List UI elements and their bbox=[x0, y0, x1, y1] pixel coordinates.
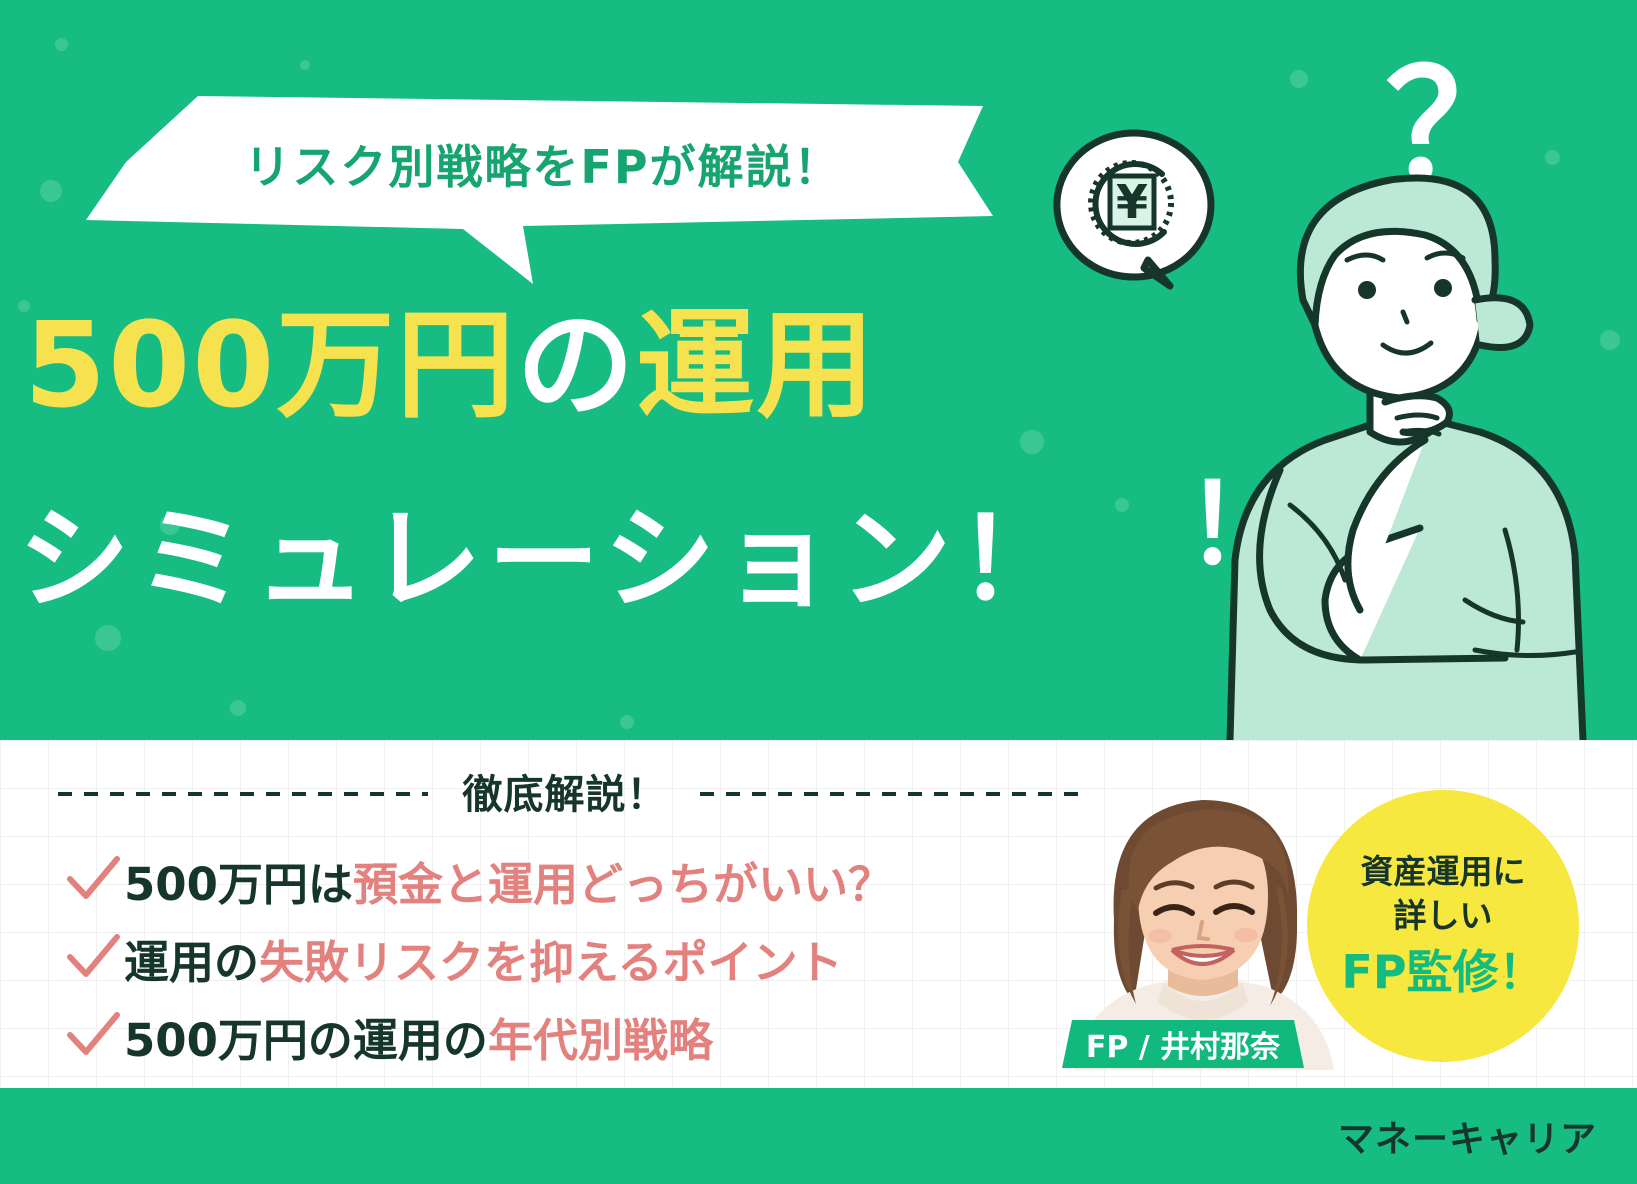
main-title-line-2: シミュレーション！ bbox=[18, 495, 1268, 625]
dashed-rule-left bbox=[58, 792, 428, 796]
brand-logo-text: マネーキャリア bbox=[1338, 1110, 1597, 1162]
fp-name-label: FP / 井村那奈 bbox=[1062, 1020, 1304, 1068]
footer-bar: マネーキャリア bbox=[0, 1088, 1637, 1184]
list-item: 500万円の運用の年代別戦略 bbox=[62, 1001, 1012, 1071]
badge-line-3: FP監修！ bbox=[1341, 942, 1544, 1002]
decor-dot bbox=[1290, 70, 1308, 88]
bullet-plain-3: 500万円の運用の bbox=[124, 1014, 488, 1067]
dashed-rule-right bbox=[700, 792, 1080, 796]
kicker-label: 徹底解説！ bbox=[430, 762, 700, 820]
decor-dot bbox=[620, 715, 634, 729]
bullet-highlight-3: 年代別戦略 bbox=[488, 1014, 713, 1067]
decor-dot bbox=[300, 60, 310, 70]
title-part-amount: 500万円 bbox=[24, 296, 516, 434]
badge-line-1: 資産運用に bbox=[1361, 850, 1526, 894]
decor-dot bbox=[40, 180, 62, 202]
title-part-no: の bbox=[516, 296, 636, 434]
bullet-list: 500万円は預金と運用どっちがいい？ 運用の失敗リスクを抑えるポイント 500万… bbox=[62, 845, 1012, 1079]
check-icon bbox=[62, 849, 124, 911]
list-item-text: 運用の失敗リスクを抑えるポイント bbox=[124, 926, 843, 991]
decor-dot bbox=[230, 700, 246, 716]
decor-dot bbox=[95, 625, 121, 651]
decor-dot bbox=[55, 38, 68, 51]
list-item: 500万円は預金と運用どっちがいい？ bbox=[62, 845, 1012, 915]
check-icon bbox=[62, 1005, 124, 1067]
thinking-woman-illustration bbox=[1175, 140, 1625, 740]
hero-section: リスク別戦略をFPが解説！ ¥ ？ ！ bbox=[0, 0, 1637, 740]
list-item-text: 500万円は預金と運用どっちがいい？ bbox=[124, 848, 893, 913]
bullet-highlight-2: 失敗リスクを抑えるポイント bbox=[259, 936, 843, 989]
speech-bubble-banner: リスク別戦略をFPが解説！ bbox=[78, 84, 1008, 244]
list-item: 運用の失敗リスクを抑えるポイント bbox=[62, 923, 1012, 993]
title-part-unyou: 運用 bbox=[636, 296, 876, 434]
check-icon bbox=[62, 927, 124, 989]
bullet-plain-1: 500万円は bbox=[124, 858, 353, 911]
badge-line-2: 詳しい bbox=[1394, 894, 1493, 938]
decor-dot bbox=[1020, 430, 1044, 454]
list-item-text: 500万円の運用の年代別戦略 bbox=[124, 1004, 713, 1069]
svg-text:¥: ¥ bbox=[1116, 175, 1148, 229]
bullet-highlight-1: 預金と運用どっちがいい？ bbox=[353, 858, 893, 911]
bullet-plain-2: 運用の bbox=[124, 936, 259, 989]
thumbnail-canvas: リスク別戦略をFPが解説！ ¥ ？ ！ bbox=[0, 0, 1637, 1184]
speech-bubble-text: リスク別戦略をFPが解説！ bbox=[78, 84, 1008, 244]
main-title-line-1: 500万円の運用 bbox=[24, 300, 1024, 430]
